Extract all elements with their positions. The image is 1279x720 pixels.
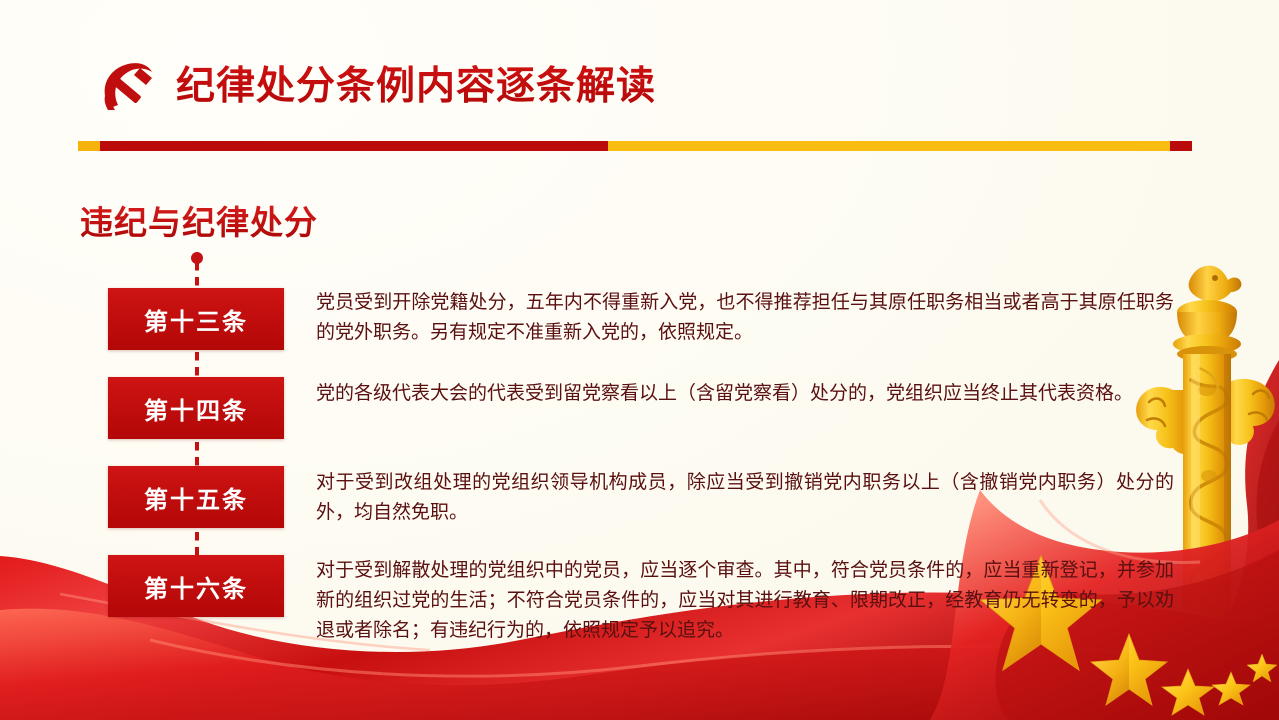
article-badge[interactable]: 第十六条 [108, 555, 284, 617]
article-text: 党员受到开除党籍处分，五年内不得重新入党，也不得推荐担任与其原任职务相当或者高于… [316, 288, 1174, 348]
article-badge[interactable]: 第十三条 [108, 288, 284, 350]
article-badge[interactable]: 第十四条 [108, 377, 284, 439]
article-text: 党的各级代表大会的代表受到留党察看以上（含留党察看）处分的，党组织应当终止其代表… [316, 379, 1174, 409]
article-text: 对于受到解散处理的党组织中的党员，应当逐个审查。其中，符合党员条件的，应当重新登… [316, 556, 1174, 646]
article-list: 第十三条 党员受到开除党籍处分，五年内不得重新入党，也不得推荐担任与其原任职务相… [0, 0, 1279, 720]
article-badge[interactable]: 第十五条 [108, 466, 284, 528]
article-text: 对于受到改组处理的党组织领导机构成员，除应当受到撤销党内职务以上（含撤销党内职务… [316, 468, 1174, 528]
slide-canvas: 纪律处分条例内容逐条解读 违纪与纪律处分 第十三条 党员受到开除党籍处分，五年内… [0, 0, 1279, 720]
